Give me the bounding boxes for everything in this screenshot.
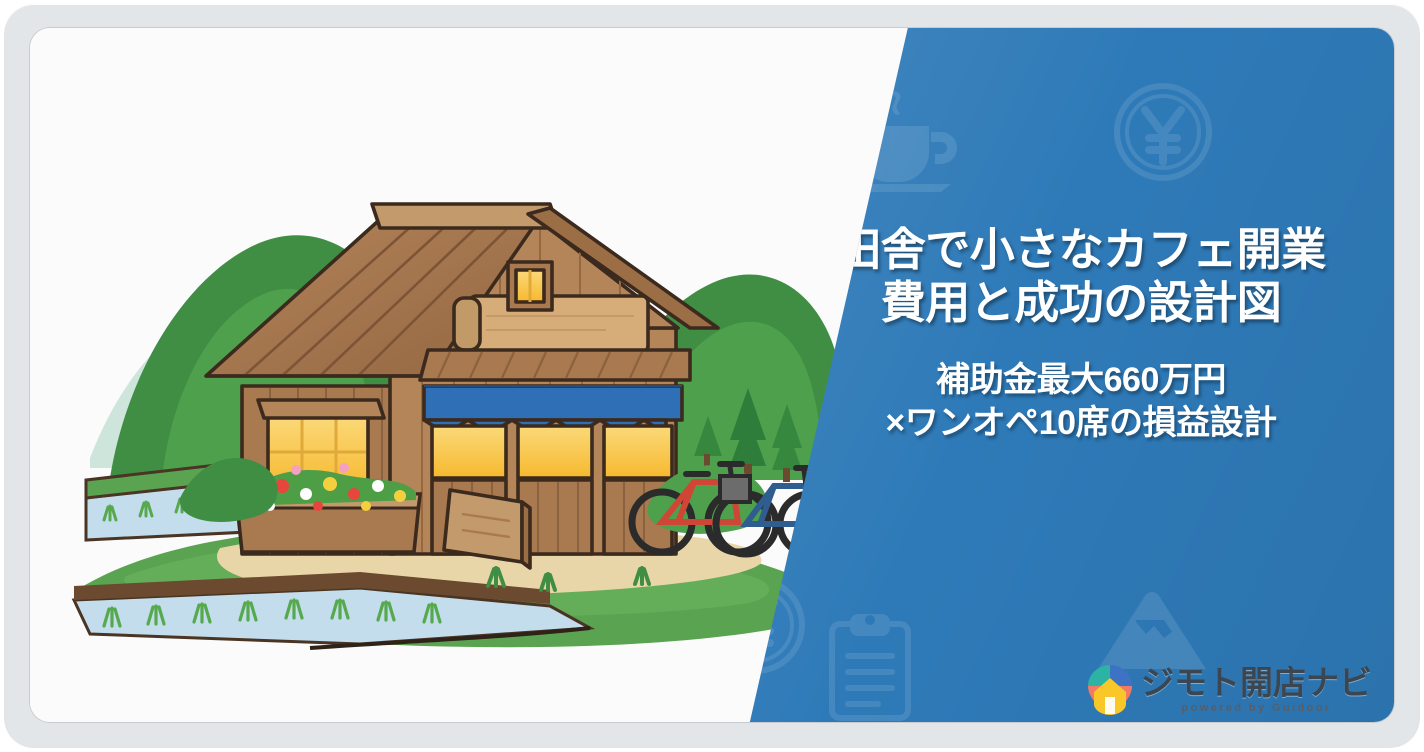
subtitle-block: 補助金最大660万円 ×ワンオペ10席の損益設計 <box>782 359 1380 445</box>
subtitle-line-2: ×ワンオペ10席の損益設計 <box>782 402 1380 445</box>
logo-wordmark: ジモト開店ナビ <box>1141 666 1372 699</box>
title-line-1: 田舎で小さなカフェ開業 <box>782 224 1380 277</box>
banner-card: 田舎で小さなカフェ開業 費用と成功の設計図 補助金最大660万円 ×ワンオペ10… <box>30 28 1394 722</box>
banner-image: 田舎で小さなカフェ開業 費用と成功の設計図 補助金最大660万円 ×ワンオペ10… <box>0 0 1424 752</box>
brand-logo[interactable]: ジモト開店ナビ powered by Guidoor <box>1087 664 1372 716</box>
logo-tagline: powered by Guidoor <box>1141 703 1372 714</box>
attic-window <box>508 262 552 310</box>
yen-coin-icon <box>1111 80 1215 184</box>
map-pin-house-logo-icon <box>1087 664 1133 716</box>
subtitle-line-1: 補助金最大660万円 <box>782 359 1380 402</box>
clipboard-icon <box>822 608 918 722</box>
logo-text: ジモト開店ナビ powered by Guidoor <box>1141 666 1372 714</box>
title-line-2: 費用と成功の設計図 <box>782 277 1380 330</box>
mount-fuji-icon <box>1094 588 1210 674</box>
storefront-windows <box>432 426 672 478</box>
